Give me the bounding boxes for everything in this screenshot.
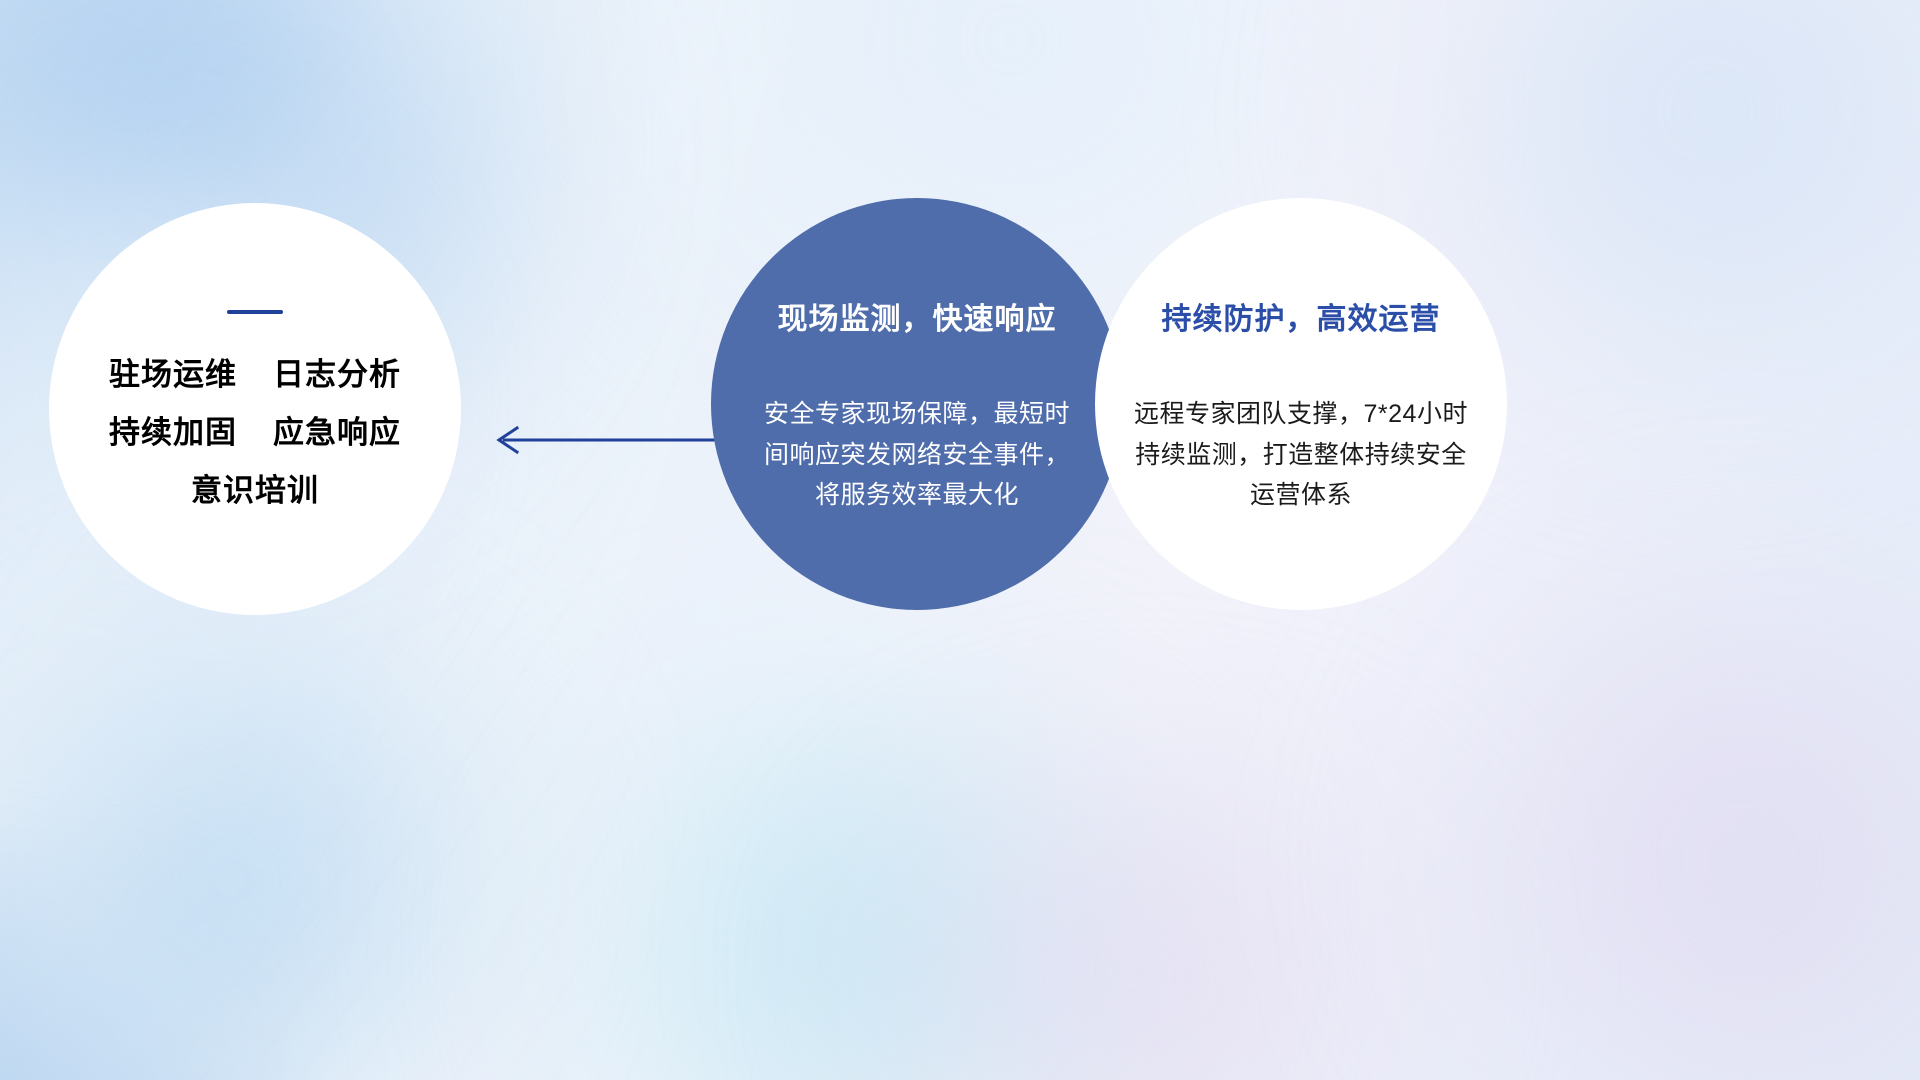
capability-item: 日志分析	[273, 358, 401, 392]
capability-row: 意识培训	[191, 474, 319, 508]
continuous-protection-body: 远程专家团队支撑，7*24小时持续监测，打造整体持续安全运营体系	[1126, 394, 1476, 516]
onsite-monitoring-body: 安全专家现场保障，最短时间响应突发网络安全事件，将服务效率最大化	[762, 394, 1072, 516]
capability-list: 驻场运维 日志分析 持续加固 应急响应 意识培训	[109, 358, 401, 508]
capability-item: 意识培训	[191, 474, 319, 508]
flow-arrow	[485, 415, 745, 465]
capability-item: 应急响应	[273, 416, 401, 450]
capability-row: 持续加固 应急响应	[109, 416, 401, 450]
continuous-protection-title: 持续防护，高效运营	[1162, 294, 1441, 338]
title-divider	[227, 310, 283, 314]
continuous-protection-circle: 持续防护，高效运营 远程专家团队支撑，7*24小时持续监测，打造整体持续安全运营…	[1095, 198, 1507, 610]
onsite-monitoring-title: 现场监测，快速响应	[778, 294, 1057, 338]
capability-row: 驻场运维 日志分析	[109, 358, 401, 392]
onsite-monitoring-circle: 现场监测，快速响应 安全专家现场保障，最短时间响应突发网络安全事件，将服务效率最…	[711, 198, 1123, 610]
capabilities-circle: 驻场运维 日志分析 持续加固 应急响应 意识培训	[49, 203, 461, 615]
capability-item: 驻场运维	[109, 358, 237, 392]
slide-canvas: 驻场运维 日志分析 持续加固 应急响应 意识培训 现场监测，快速响应 安全专家现…	[0, 0, 1920, 1080]
capability-item: 持续加固	[109, 416, 237, 450]
